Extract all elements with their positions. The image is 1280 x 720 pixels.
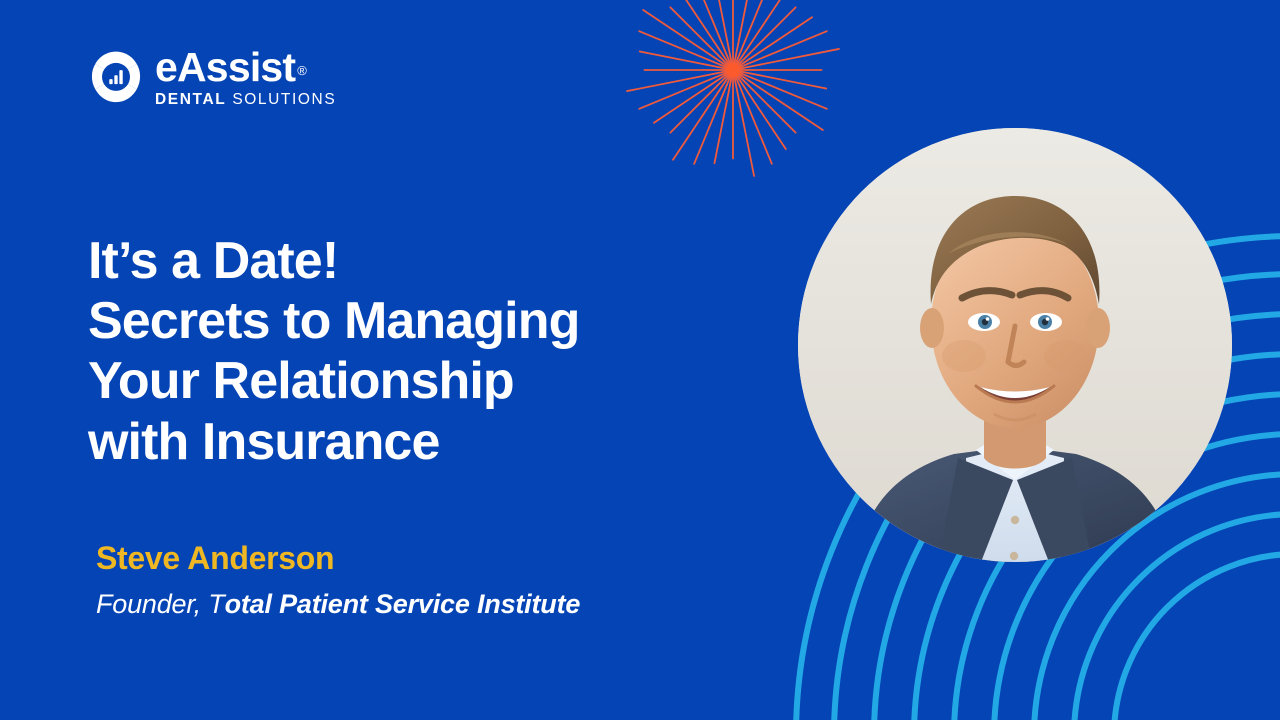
logo-wordmark-group: eAssist ® DENTAL SOLUTIONS [155, 48, 336, 107]
logo-tagline-regular: SOLUTIONS [232, 92, 336, 108]
slide-title: It’s a Date! Secrets to Managing Your Re… [88, 231, 788, 472]
speaker-block: Steve Anderson Founder, Total Patient Se… [96, 540, 580, 620]
speaker-portrait [798, 128, 1232, 562]
registered-trademark-icon: ® [297, 64, 306, 77]
eassist-trefoil-bar-chart-icon [88, 50, 144, 106]
speaker-role-organization: otal Patient Service Institute [225, 589, 581, 619]
logo-wordmark: eAssist [155, 48, 295, 87]
logo-tagline: DENTAL SOLUTIONS [155, 92, 336, 108]
speaker-name: Steve Anderson [96, 540, 580, 577]
presentation-slide: eAssist ® DENTAL SOLUTIONS It’s a Date! … [0, 0, 1280, 720]
logo-tagline-bold: DENTAL [155, 92, 226, 108]
speaker-role-prefix: Founder, T [96, 589, 225, 619]
brand-logo: eAssist ® DENTAL SOLUTIONS [88, 48, 336, 107]
avatar [798, 128, 1232, 562]
logo-wordmark-row: eAssist ® [155, 48, 336, 87]
speaker-role: Founder, Total Patient Service Institute [96, 589, 580, 620]
